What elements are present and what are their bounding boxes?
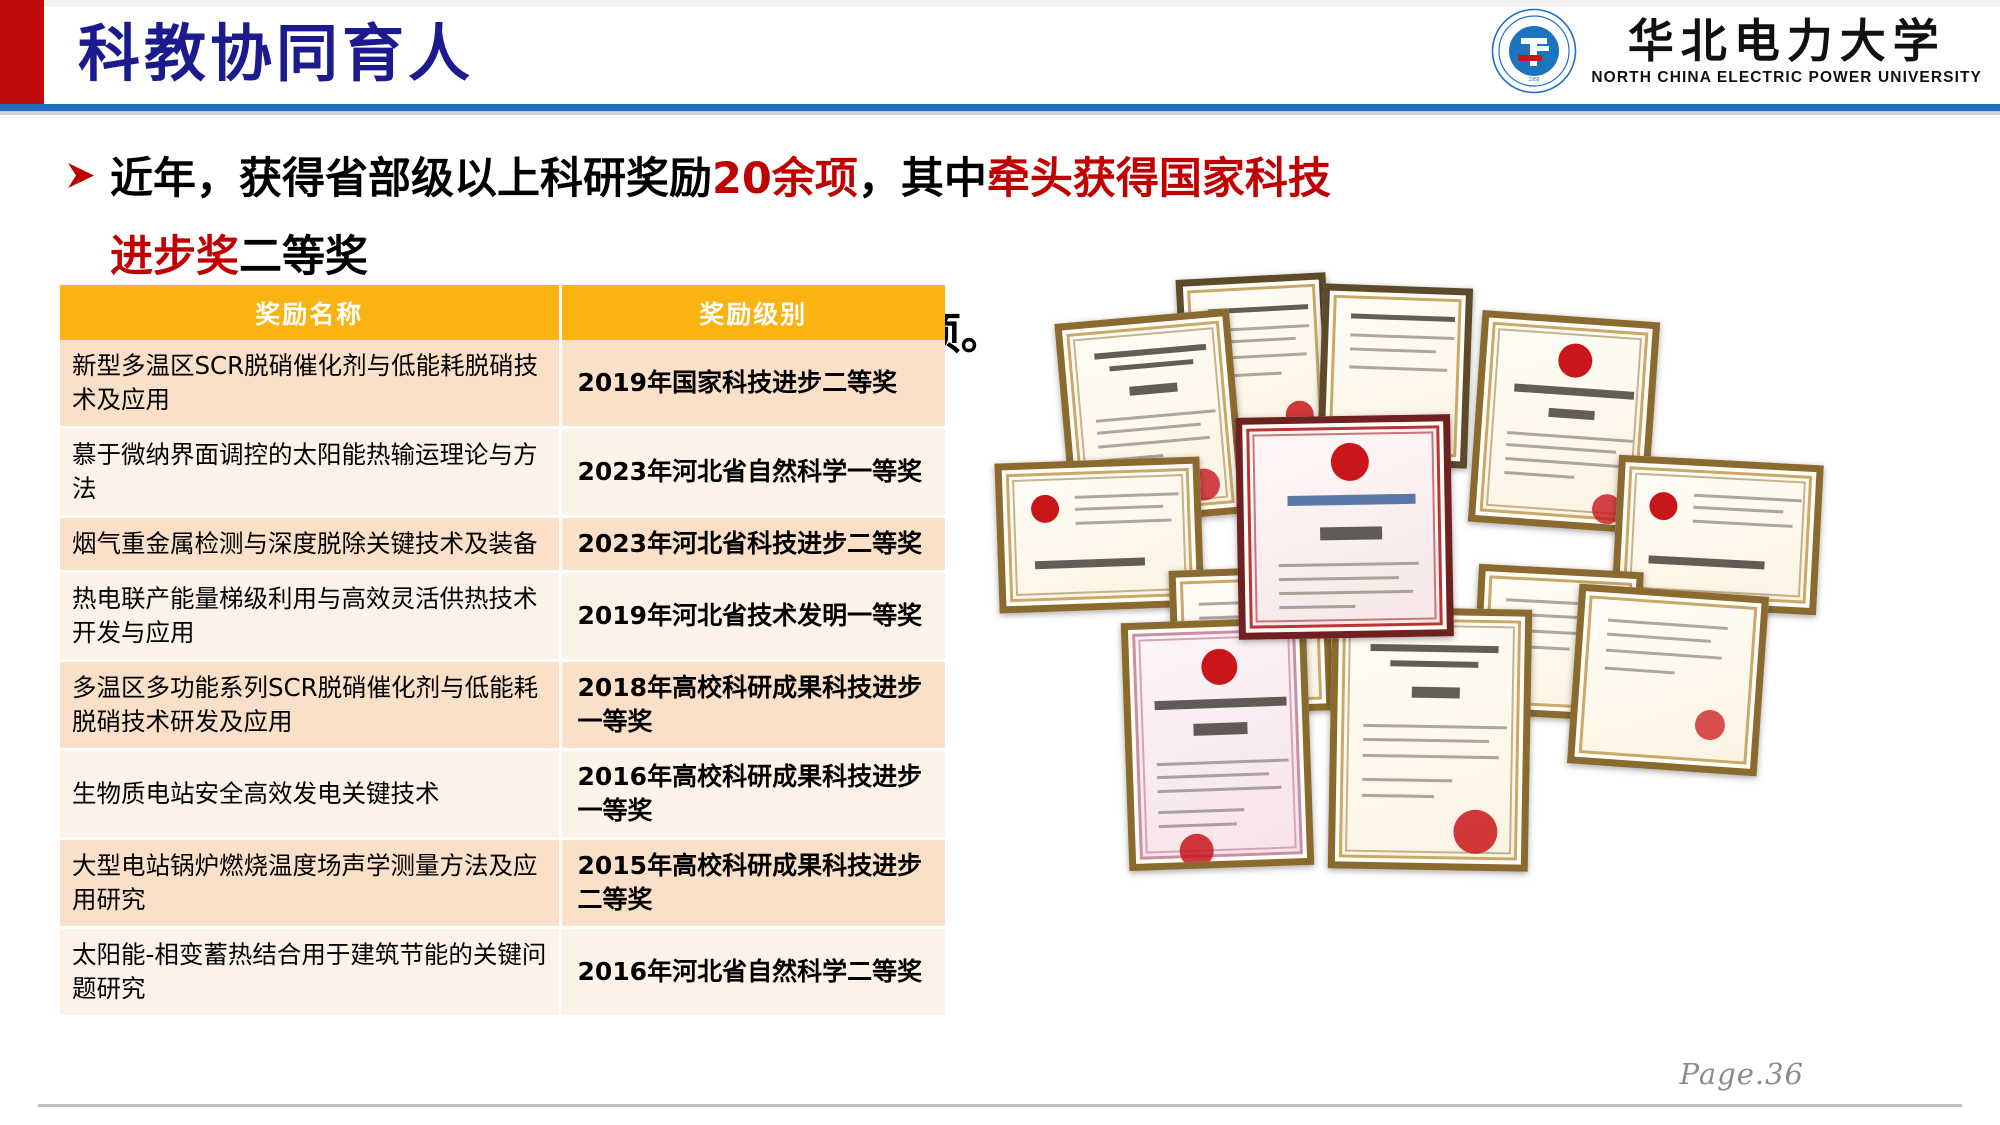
- footer-divider: [38, 1104, 1962, 1107]
- certificate-photo-featured: [1235, 414, 1454, 640]
- column-header-award-level: 奖励级别: [560, 285, 945, 340]
- slide-header: 科教协同育人 1958 华北电力大学 NORTH CHINA ELECTRIC …: [0, 0, 2000, 112]
- bullet-text-part-1: 近年，获得省部级以上科研奖励: [110, 154, 712, 204]
- awards-table-body: 新型多温区SCR脱硝催化剂与低能耗脱硝技术及应用 2019年国家科技进步二等奖 …: [60, 340, 945, 1017]
- svg-text:1958: 1958: [1529, 77, 1540, 83]
- certificate-photo: [1328, 606, 1533, 871]
- cell-award-name: 多温区多功能系列SCR脱硝催化剂与低能耗脱硝技术研发及应用: [60, 661, 560, 750]
- university-emblem-icon: 1958: [1491, 8, 1577, 94]
- page-title: 科教协同育人: [78, 14, 474, 94]
- table-row: 新型多温区SCR脱硝催化剂与低能耗脱硝技术及应用 2019年国家科技进步二等奖: [60, 340, 945, 428]
- cell-award-name: 生物质电站安全高效发电关键技术: [60, 750, 560, 839]
- bullet-highlight-1: 20余项: [712, 154, 858, 204]
- cell-award-name: 热电联产能量梯级利用与高效灵活供热技术开发与应用: [60, 572, 560, 661]
- cell-award-name: 大型电站锅炉燃烧温度场声学测量方法及应用研究: [60, 839, 560, 928]
- table-row: 慕于微纳界面调控的太阳能热输运理论与方法 2023年河北省自然科学一等奖: [60, 428, 945, 517]
- certificate-photo: [1121, 617, 1315, 871]
- table-row: 太阳能-相变蓄热结合用于建筑节能的关键问题研究 2016年河北省自然科学二等奖: [60, 928, 945, 1017]
- table-row: 热电联产能量梯级利用与高效灵活供热技术开发与应用 2019年河北省技术发明一等奖: [60, 572, 945, 661]
- header-grey-rule: [0, 111, 2000, 115]
- header-blue-rule: [0, 104, 2000, 111]
- bullet-text-part-3: 二等奖: [239, 232, 368, 282]
- cell-award-name: 新型多温区SCR脱硝催化剂与低能耗脱硝技术及应用: [60, 340, 560, 428]
- cell-award-level: 2023年河北省科技进步二等奖: [560, 517, 945, 572]
- column-header-award-name: 奖励名称: [60, 285, 560, 340]
- cell-award-level: 2015年高校科研成果科技进步二等奖: [560, 839, 945, 928]
- table-row: 烟气重金属检测与深度脱除关键技术及装备 2023年河北省科技进步二等奖: [60, 517, 945, 572]
- cell-award-name: 太阳能-相变蓄热结合用于建筑节能的关键问题研究: [60, 928, 560, 1017]
- certificate-photo: [1567, 584, 1769, 777]
- table-header-row: 奖励名称 奖励级别: [60, 285, 945, 340]
- cell-award-level: 2019年河北省技术发明一等奖: [560, 572, 945, 661]
- cell-award-level: 2023年河北省自然科学一等奖: [560, 428, 945, 517]
- university-logo: 1958 华北电力大学 NORTH CHINA ELECTRIC POWER U…: [1491, 8, 1982, 94]
- table-row: 大型电站锅炉燃烧温度场声学测量方法及应用研究 2015年高校科研成果科技进步二等…: [60, 839, 945, 928]
- cell-award-level: 2016年河北省自然科学二等奖: [560, 928, 945, 1017]
- table-row: 生物质电站安全高效发电关键技术 2016年高校科研成果科技进步一等奖: [60, 750, 945, 839]
- certificate-collage-image: [975, 268, 1975, 888]
- header-top-rule: [44, 0, 2000, 7]
- university-name-cn: 华北电力大学: [1628, 14, 1946, 68]
- cell-award-level: 2016年高校科研成果科技进步一等奖: [560, 750, 945, 839]
- bullet-text-part-2: ，其中: [858, 154, 987, 204]
- page-number: Page.36: [1680, 1057, 1804, 1091]
- university-name-en: NORTH CHINA ELECTRIC POWER UNIVERSITY: [1591, 68, 1982, 88]
- cell-award-name: 慕于微纳界面调控的太阳能热输运理论与方法: [60, 428, 560, 517]
- bullet-arrow-icon: [64, 158, 104, 202]
- cell-award-name: 烟气重金属检测与深度脱除关键技术及装备: [60, 517, 560, 572]
- awards-table: 奖励名称 奖励级别 新型多温区SCR脱硝催化剂与低能耗脱硝技术及应用 2019年…: [60, 285, 945, 1018]
- table-row: 多温区多功能系列SCR脱硝催化剂与低能耗脱硝技术研发及应用 2018年高校科研成…: [60, 661, 945, 750]
- cell-award-level: 2019年国家科技进步二等奖: [560, 340, 945, 428]
- cell-award-level: 2018年高校科研成果科技进步一等奖: [560, 661, 945, 750]
- header-red-accent-bar: [0, 0, 44, 104]
